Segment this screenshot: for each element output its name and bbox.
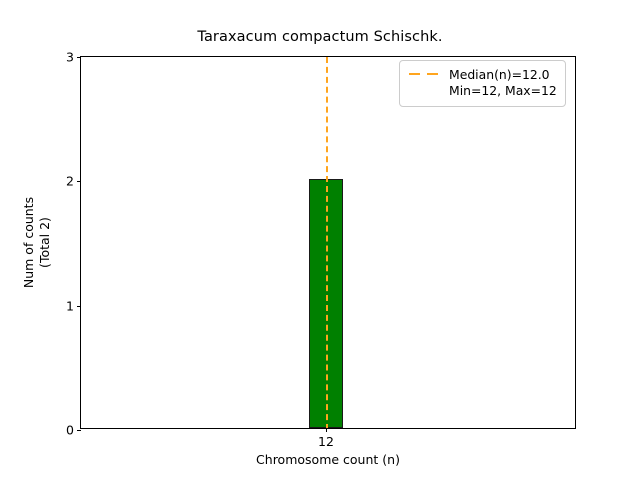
plot-clip: [81, 57, 575, 428]
ytick-mark-2: [77, 181, 81, 182]
plot-area: 0 1 2 3 12: [80, 56, 576, 429]
chart-figure: Taraxacum compactum Schischk. 0 1 2 3 12…: [0, 0, 640, 480]
legend-entries: Median(n)=12.0 Min=12, Max=12: [449, 67, 557, 99]
ytick-label-0: 0: [66, 424, 74, 437]
ytick-mark-0: [77, 430, 81, 431]
legend-label-median: Median(n)=12.0: [449, 67, 557, 83]
chart-title: Taraxacum compactum Schischk.: [0, 29, 640, 46]
x-axis-label: Chromosome count (n): [80, 453, 576, 467]
legend: Median(n)=12.0 Min=12, Max=12: [399, 60, 566, 107]
ytick-mark-1: [77, 306, 81, 307]
legend-label-minmax: Min=12, Max=12: [449, 83, 557, 99]
ytick-label-3: 3: [66, 51, 74, 64]
ytick-label-1: 1: [66, 299, 74, 312]
ytick-mark-3: [77, 57, 81, 58]
median-line: [326, 57, 328, 428]
xtick-mark-12: [326, 428, 327, 432]
ytick-label-2: 2: [66, 175, 74, 188]
median-line-swatch-icon: [408, 67, 442, 83]
y-axis-label: Num of counts (Total 2): [21, 56, 61, 429]
xtick-label-12: 12: [318, 435, 334, 449]
